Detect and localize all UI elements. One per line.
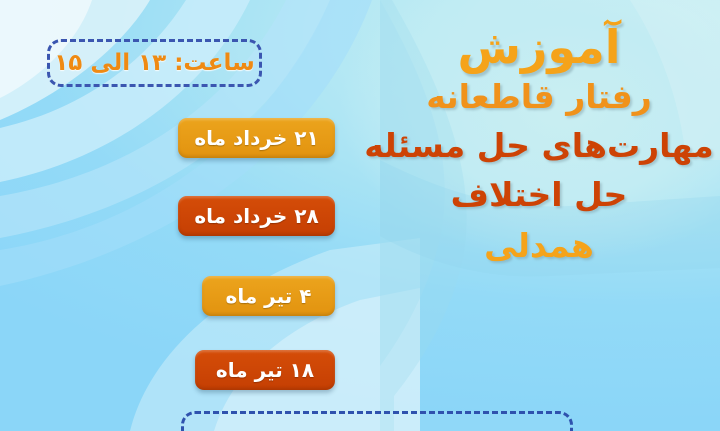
page-title: آموزش bbox=[364, 24, 714, 70]
date-badge: ۱۸ تیر ماه bbox=[195, 350, 335, 390]
topic-conflict-resolution: حل اختلاف bbox=[364, 178, 714, 211]
date-badge: ۴ تیر ماه bbox=[202, 276, 335, 316]
time-badge: ساعت: ۱۳ الی ۱۵ bbox=[47, 39, 262, 87]
topic-empathy: همدلی bbox=[364, 229, 714, 262]
time-badge-label: ساعت: ۱۳ الی ۱۵ bbox=[54, 50, 255, 76]
topic-problem-solving-skills: مهارت‌های حل مسئله bbox=[364, 129, 714, 162]
date-badge: ۲۸ خرداد ماه bbox=[178, 196, 335, 236]
date-badge: ۲۱ خرداد ماه bbox=[178, 118, 335, 158]
title-block: آموزش رفتار قاطعانه مهارت‌های حل مسئله ح… bbox=[364, 10, 714, 262]
topic-assertive-behavior: رفتار قاطعانه bbox=[364, 80, 714, 113]
bottom-dashed-panel bbox=[181, 411, 573, 431]
poster-canvas: ساعت: ۱۳ الی ۱۵ ۲۱ خرداد ماه ۲۸ خرداد ما… bbox=[0, 0, 720, 431]
